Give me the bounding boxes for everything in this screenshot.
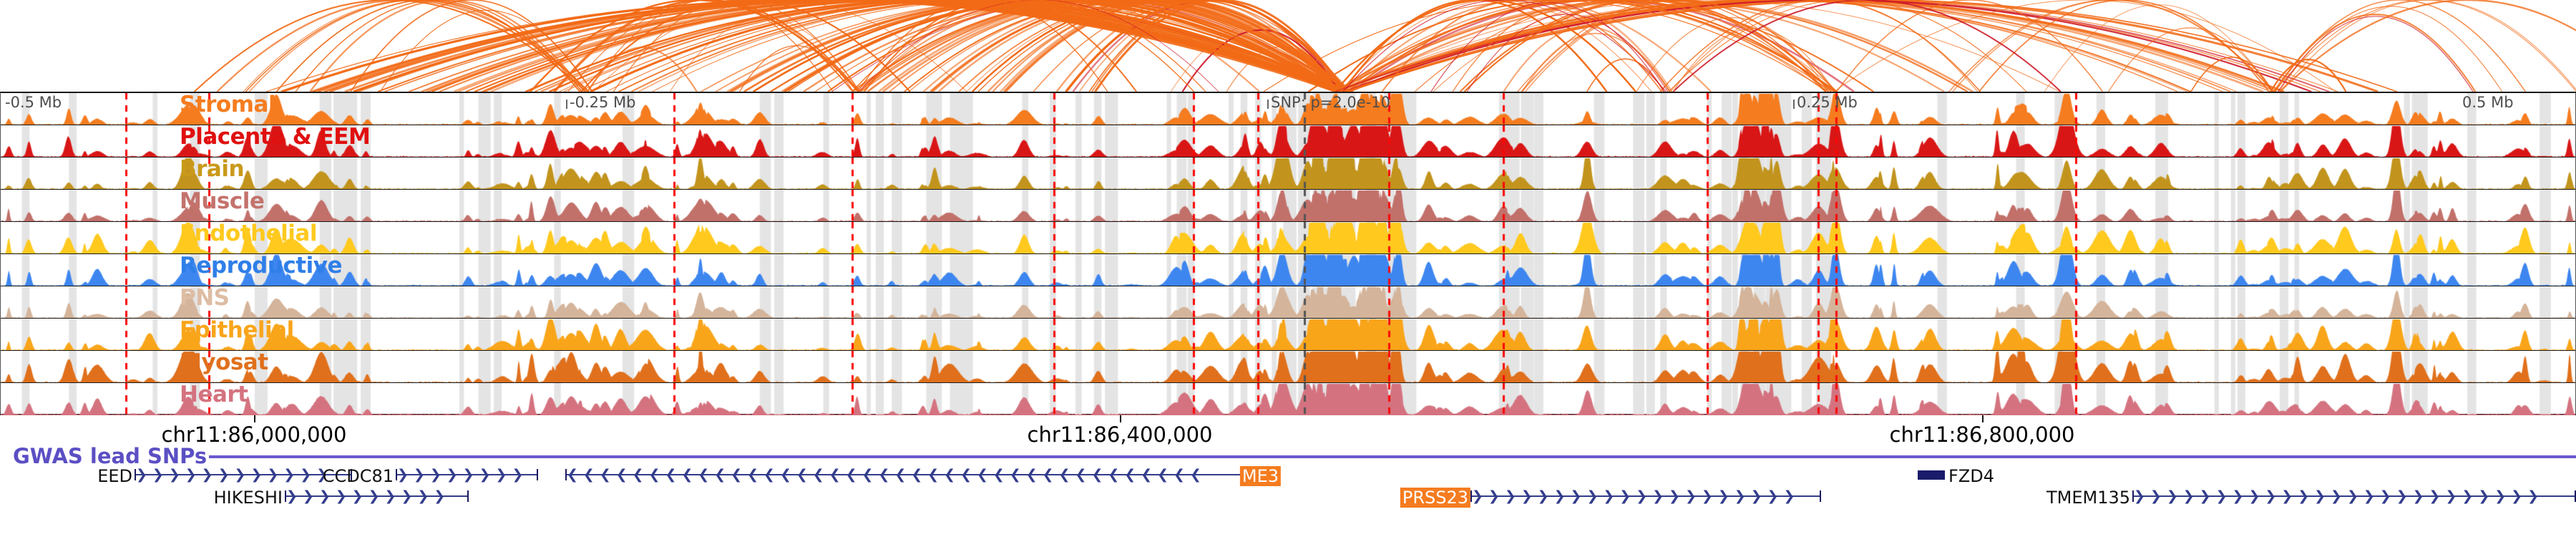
gene-exon — [1918, 470, 1945, 480]
gwas-track-line — [209, 455, 2576, 458]
gwas-track-label: GWAS lead SNPs — [13, 444, 207, 468]
ruler-tick-label: 0.5 Mb — [2462, 94, 2514, 111]
track-epithelial[interactable]: Epithelial — [1, 319, 2575, 351]
track-signal-canvas — [1, 158, 2575, 190]
gene-label-prss23[interactable]: PRSS23 — [1400, 488, 1470, 508]
gene-annotation-track: ❯❯❯❯❯❯❯❯❯❯❯❯EED❯❯❯❯❯❯❯❯CCDC81❮❮❮❮❮❮❮❮❮❮❮… — [0, 465, 2576, 537]
loop-arc — [2279, 6, 2502, 92]
track-signal-canvas — [1, 351, 2575, 383]
gene-eed[interactable]: ❯❯❯❯❯❯❯❯❯❯❯❯ — [135, 465, 352, 484]
gene-strand-arrows: ❯❯❯❯❯❯❯❯❯❯ — [286, 487, 467, 505]
gene-tmem135[interactable]: ❯❯❯❯❯❯❯❯❯❯❯❯❯❯❯❯❯❯❯❯❯❯❯❯❯ — [2132, 487, 2576, 505]
gene-start-cap — [565, 469, 567, 480]
track-brain[interactable]: Brain — [1, 158, 2575, 190]
gene-strand-arrows: ❮❮❮❮❮❮❮❮❮❮❮❮❮❮❮❮❮❮❮❮❮❮❮❮❮❮❮❮❮❮❮❮❮❮❮❮❮❮❮ — [567, 465, 1241, 484]
gene-label-fzd4[interactable]: FZD4 — [1948, 466, 1996, 486]
axis-tick-mark — [1120, 415, 1121, 422]
loop-arc — [1264, 0, 1828, 92]
loop-arc — [243, 0, 582, 92]
genome-browser: Stromal-0.5 Mb-0.25 Mb0.25 Mb0.5 MbSNP: … — [0, 0, 2576, 537]
ruler-tick-label: 0.25 Mb — [1797, 94, 1858, 111]
track-myosat[interactable]: Myosat — [1, 351, 2575, 383]
ruler-tick-mark — [566, 100, 567, 109]
gene-end-cap — [467, 490, 469, 502]
gene-strand-arrows: ❯❯❯❯❯❯❯❯❯❯❯❯❯❯❯❯❯❯❯❯❯❯❯❯❯ — [2134, 487, 2575, 505]
track-signal-canvas — [1, 222, 2575, 254]
gene-row: ❯❯❯❯❯❯❯❯❯❯❯❯EED❯❯❯❯❯❯❯❯CCDC81❮❮❮❮❮❮❮❮❮❮❮… — [0, 465, 2576, 484]
ruler-tick-label: -0.5 Mb — [5, 94, 62, 111]
chromatin-loop-arcs-panel — [0, 0, 2576, 92]
ruler-tick-2: 0.25 Mb — [1793, 94, 1858, 111]
loop-arcs — [0, 0, 2576, 92]
gene-strand-arrows: ❯❯❯❯❯❯❯❯❯❯❯❯❯❯❯❯❯❯❯❯ — [1472, 487, 1820, 505]
gene-label-hikeshi[interactable]: HIKESHI — [214, 488, 285, 508]
track-signal-canvas — [1, 319, 2575, 351]
ruler-tick-3: 0.5 Mb — [2462, 94, 2514, 111]
snp-pvalue-annotation: SNP: p=2.0e-10 — [1267, 94, 1390, 111]
gene-strand-arrows: ❯❯❯❯❯❯❯❯ — [397, 465, 537, 484]
ruler-tick-label: -0.25 Mb — [570, 94, 635, 111]
loop-arc — [2274, 0, 2576, 92]
loop-arc — [1673, 29, 1834, 92]
coordinate-axis: chr11:86,000,000chr11:86,400,000chr11:86… — [0, 415, 2576, 448]
gene-hikeshi[interactable]: ❯❯❯❯❯❯❯❯❯❯ — [285, 487, 469, 505]
track-pns[interactable]: PNS — [1, 286, 2575, 319]
gene-start-cap — [285, 490, 286, 502]
track-placenta-eem[interactable]: Placenta & EEM — [1, 125, 2575, 158]
track-signal-canvas — [1, 383, 2575, 415]
gene-prss23[interactable]: ❯❯❯❯❯❯❯❯❯❯❯❯❯❯❯❯❯❯❯❯ — [1470, 487, 1821, 505]
track-signal-canvas — [1, 190, 2575, 222]
gene-label-eed[interactable]: EED — [97, 466, 135, 486]
gene-start-cap — [135, 469, 136, 480]
track-endothelial[interactable]: Endothelial — [1, 222, 2575, 254]
gene-start-cap — [2132, 490, 2134, 502]
gene-fzd4[interactable] — [1918, 465, 1945, 484]
snp-tick-mark — [1267, 100, 1269, 109]
gene-label-ccdc81[interactable]: CCDC81 — [323, 466, 396, 486]
gene-strand-arrows: ❯❯❯❯❯❯❯❯❯❯❯❯ — [136, 465, 351, 484]
axis-tick-mark — [254, 415, 255, 422]
gene-start-cap — [1470, 490, 1472, 502]
axis-coordinate-label: chr11:86,400,000 — [1028, 422, 1213, 447]
gene-end-cap — [537, 469, 538, 480]
signal-tracks-panel: Stromal-0.5 Mb-0.25 Mb0.25 Mb0.5 MbSNP: … — [0, 92, 2576, 415]
gene-label-me3[interactable]: ME3 — [1240, 466, 1281, 486]
track-signal-canvas — [1, 254, 2575, 286]
loop-arc — [218, 0, 589, 92]
track-signal-canvas — [1, 125, 2575, 158]
gwas-lead-snps-track: GWAS lead SNPs — [0, 447, 2576, 467]
loop-arc — [1522, 34, 1669, 92]
track-stromal[interactable]: Stromal-0.5 Mb-0.25 Mb0.25 Mb0.5 MbSNP: … — [1, 93, 2575, 125]
ruler-tick-mark — [1793, 100, 1795, 109]
gene-ccdc81[interactable]: ❯❯❯❯❯❯❯❯ — [396, 465, 538, 484]
axis-coordinate-label: chr11:86,000,000 — [162, 422, 347, 447]
ruler-tick-1: -0.25 Mb — [566, 94, 635, 111]
track-signal-canvas — [1, 286, 2575, 319]
loop-arc — [1338, 0, 1826, 92]
track-heart[interactable]: Heart — [1, 383, 2575, 415]
axis-tick-mark — [1982, 415, 1984, 422]
track-muscle[interactable]: Muscle — [1, 190, 2575, 222]
gene-row: ❯❯❯❯❯❯❯❯❯❯HIKESHI❯❯❯❯❯❯❯❯❯❯❯❯❯❯❯❯❯❯❯❯PRS… — [0, 487, 2576, 505]
gene-me3[interactable]: ❮❮❮❮❮❮❮❮❮❮❮❮❮❮❮❮❮❮❮❮❮❮❮❮❮❮❮❮❮❮❮❮❮❮❮❮❮❮❮ — [565, 465, 1243, 484]
track-reproductive[interactable]: Reproductive — [1, 254, 2575, 286]
axis-coordinate-label: chr11:86,800,000 — [1890, 422, 2075, 447]
gene-start-cap — [396, 469, 397, 480]
gene-end-cap — [1820, 490, 1821, 502]
gene-label-tmem135[interactable]: TMEM135 — [2046, 488, 2132, 508]
snp-pvalue-label: SNP: p=2.0e-10 — [1271, 94, 1390, 111]
ruler-tick-0: -0.5 Mb — [5, 94, 62, 111]
